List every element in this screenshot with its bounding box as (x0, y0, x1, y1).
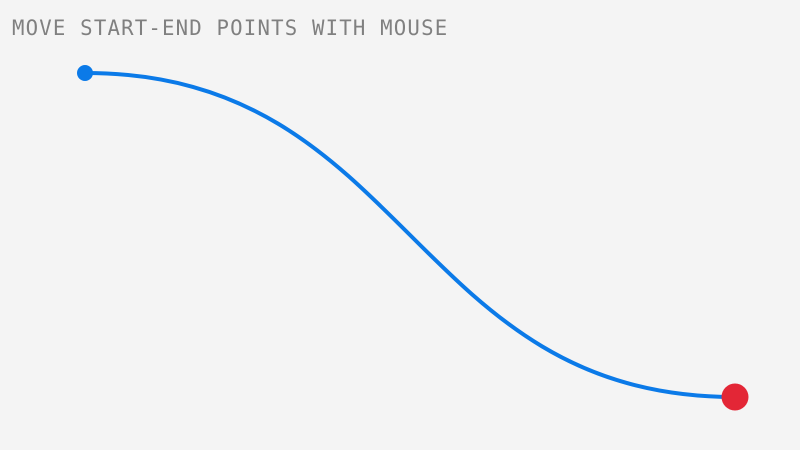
start-point-handle[interactable] (77, 65, 93, 81)
bezier-canvas[interactable] (0, 0, 800, 450)
page-title: MOVE START-END POINTS WITH MOUSE (12, 16, 448, 40)
app-root: MOVE START-END POINTS WITH MOUSE (0, 0, 800, 450)
end-point-handle[interactable] (722, 384, 749, 411)
